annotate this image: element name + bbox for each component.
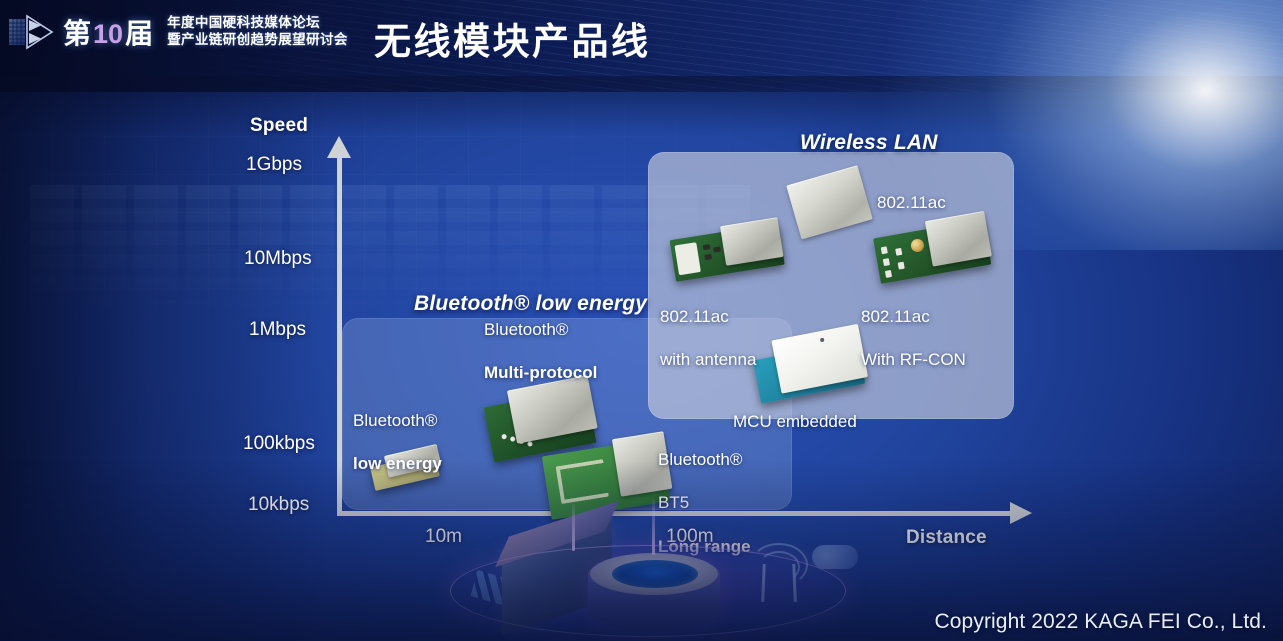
label-mcu-embedded: MCU embedded: [733, 389, 857, 454]
y-tick-100kbps: 100kbps: [243, 433, 315, 455]
label-802-11ac-with-rf-con: 802.11ac With RF-CON: [861, 284, 966, 393]
label-line: 802.11ac: [877, 192, 946, 214]
label-line: with antenna: [660, 349, 756, 371]
y-axis-title: Speed: [250, 115, 308, 137]
x-tick-10m: 10m: [425, 526, 462, 548]
label-line: Bluetooth®: [353, 410, 442, 432]
y-tick-10kbps: 10kbps: [248, 494, 309, 516]
label-line: BT5: [658, 492, 751, 514]
label-line: low energy: [353, 453, 442, 475]
y-tick-10mbps: 10Mbps: [244, 248, 312, 270]
product-positioning-chart: Speed Distance 1Gbps 10Mbps 1Mbps 100kbp…: [0, 0, 1283, 641]
y-axis-line: [337, 152, 342, 515]
x-axis-arrow-icon: [1010, 502, 1032, 524]
label-line: 802.11ac: [660, 306, 756, 328]
label-line: With RF-CON: [861, 349, 966, 371]
copyright-notice: Copyright 2022 KAGA FEI Co., Ltd.: [935, 610, 1267, 634]
label-line: MCU embedded: [733, 411, 857, 433]
label-line: 802.11ac: [861, 306, 966, 328]
label-bluetooth-multi-protocol: Bluetooth® Multi-protocol: [484, 297, 597, 406]
slide-canvas: 第 10 届 年度中国硬科技媒体论坛 暨产业链研创趋势展望研讨会 无线模块产品线…: [0, 0, 1283, 641]
x-axis-title: Distance: [906, 527, 987, 549]
y-tick-1gbps: 1Gbps: [246, 154, 302, 176]
label-bluetooth-low-energy: Bluetooth® low energy: [353, 388, 442, 497]
y-tick-1mbps: 1Mbps: [249, 319, 306, 341]
label-802-11ac: 802.11ac: [877, 170, 946, 235]
label-line: Long range: [658, 536, 751, 558]
group-title-wireless-lan: Wireless LAN: [800, 131, 938, 155]
y-axis-arrow-icon: [327, 136, 351, 158]
label-line: Multi-protocol: [484, 362, 597, 384]
label-802-11ac-with-antenna: 802.11ac with antenna: [660, 284, 756, 393]
label-line: Bluetooth®: [484, 319, 597, 341]
